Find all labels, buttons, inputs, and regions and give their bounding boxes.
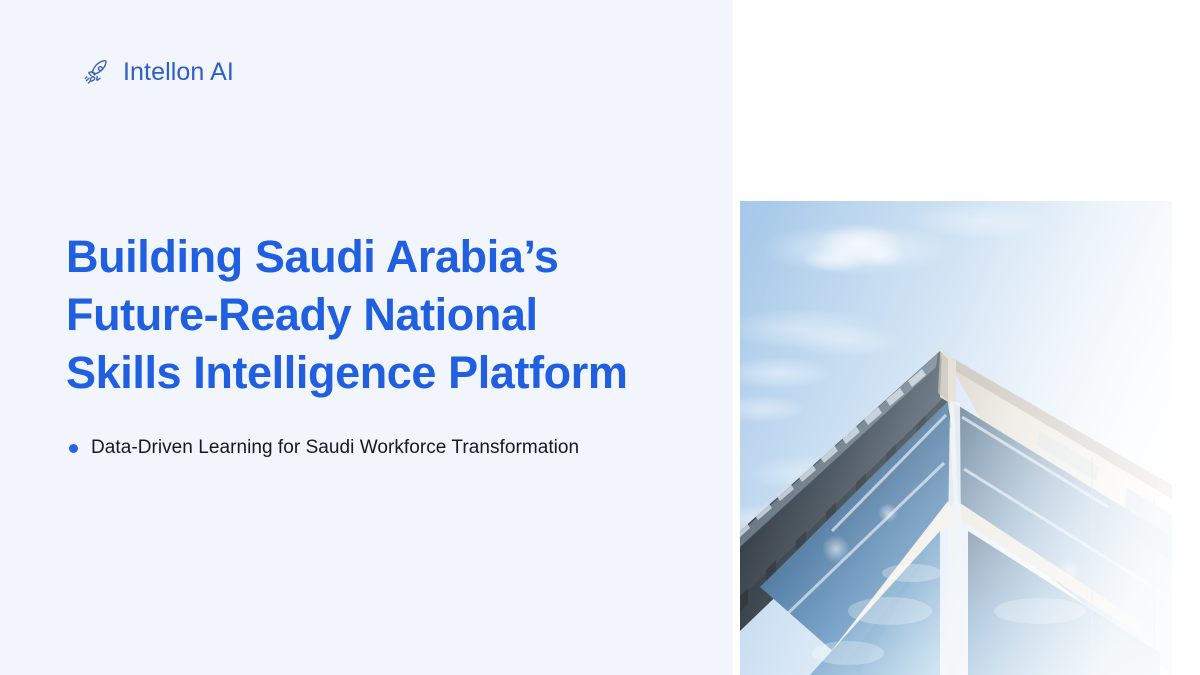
brand-logo[interactable]: Intellon AI <box>82 52 234 92</box>
headline-line-1: Building Saudi Arabia’s <box>66 228 686 286</box>
building-illustration <box>740 201 1172 675</box>
brand-name-label: Intellon AI <box>123 60 234 85</box>
modern-glass-building-photo <box>740 201 1172 675</box>
bullet-dot-icon <box>69 444 78 453</box>
subtitle-bullet-list: Data-Driven Learning for Saudi Workforce… <box>66 434 596 462</box>
list-item: Data-Driven Learning for Saudi Workforce… <box>66 434 596 462</box>
headline-line-2: Future-Ready National <box>66 286 686 344</box>
page-title: Building Saudi Arabia’s Future-Ready Nat… <box>66 228 686 402</box>
list-item-label: Data-Driven Learning for Saudi Workforce… <box>91 437 579 458</box>
slide-root: Intellon AI Building Saudi Arabia’s Futu… <box>0 0 1200 675</box>
rocket-icon <box>82 57 112 87</box>
headline-line-3: Skills Intelligence Platform <box>66 344 686 402</box>
